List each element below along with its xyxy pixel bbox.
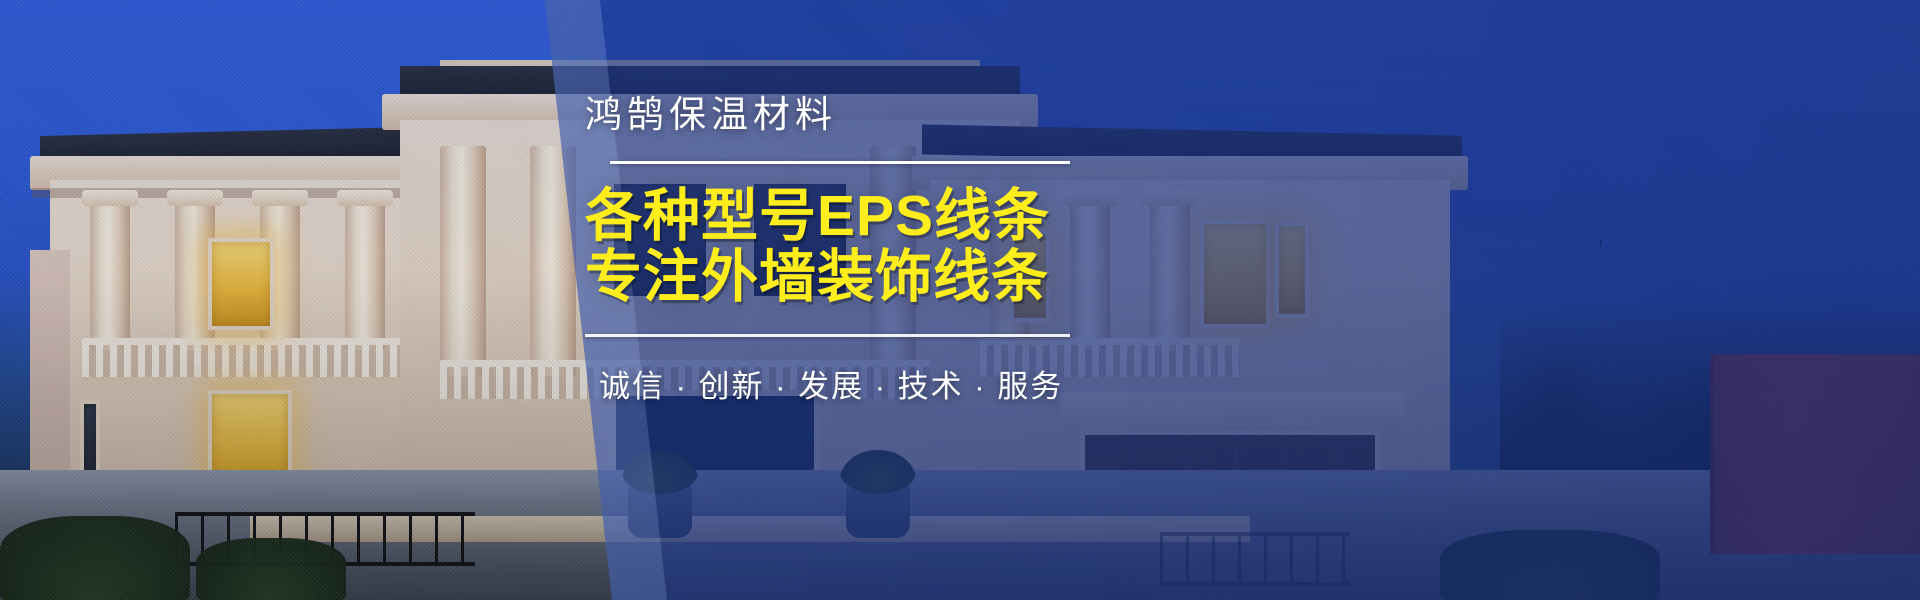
headline: 各种型号EPS线条 专注外墙装饰线条 [585,186,1105,308]
banner-content: 鸿鹄保温材料 各种型号EPS线条 专注外墙装饰线条 诚信 · 创新 · 发展 ·… [585,96,1105,406]
tagline: 诚信 · 创新 · 发展 · 技术 · 服务 [599,361,1105,406]
headline-line-1: 各种型号EPS线条 [585,184,1050,248]
headline-line-2: 专注外墙装饰线条 [585,247,1105,308]
hero-banner: 鸿鹄保温材料 各种型号EPS线条 专注外墙装饰线条 诚信 · 创新 · 发展 ·… [0,0,1920,600]
brand-name: 鸿鹄保温材料 [585,96,1105,133]
divider-bottom [585,334,1070,337]
divider-top [610,161,1070,164]
